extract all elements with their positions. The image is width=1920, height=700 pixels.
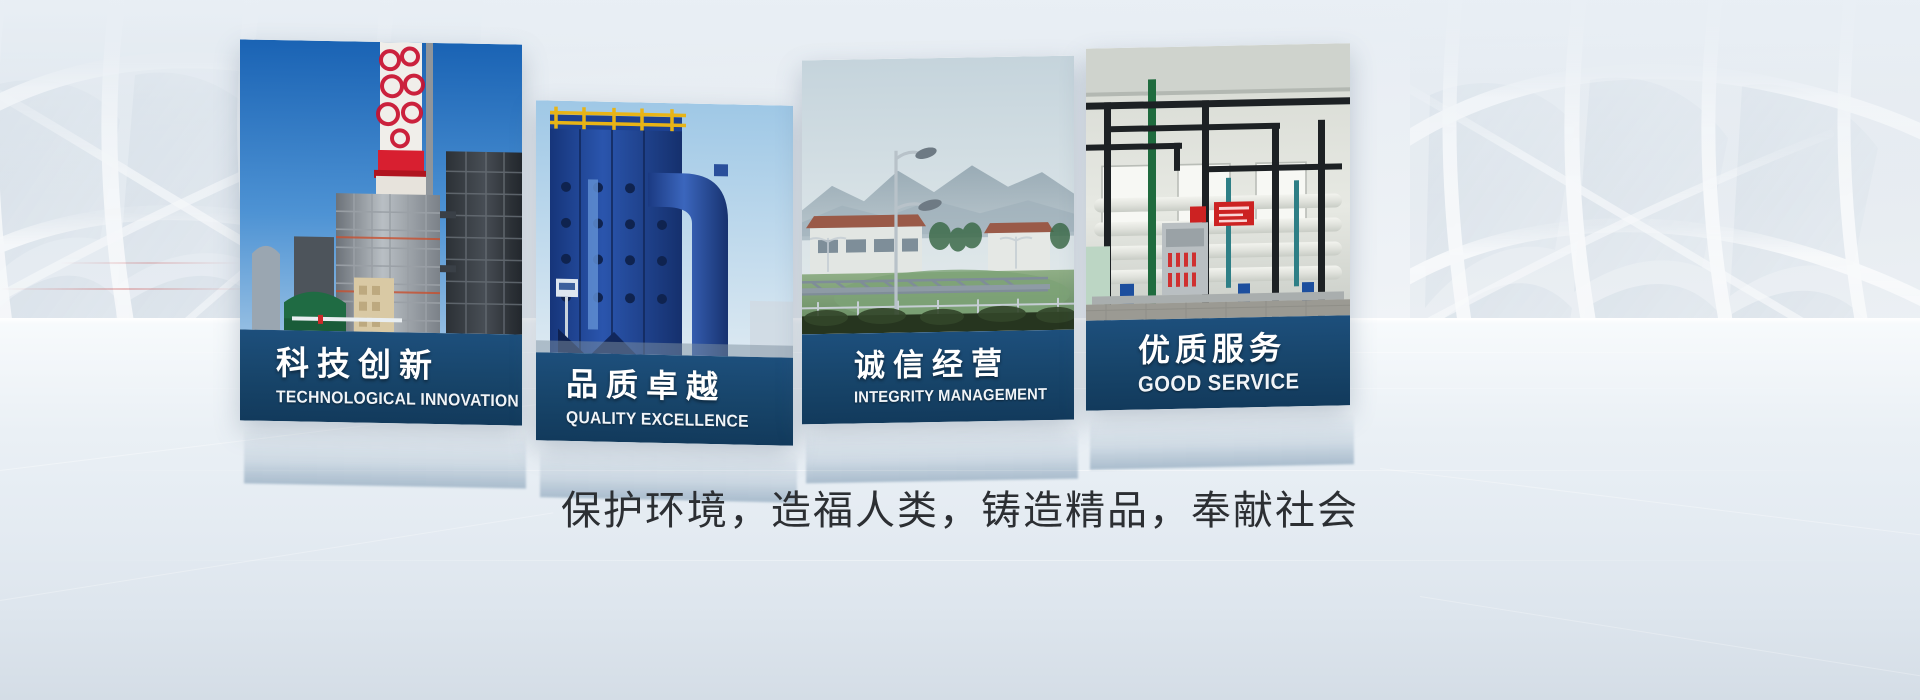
culture-panel-3[interactable]: 诚信经营 INTEGRITY MANAGEMENT [802, 56, 1074, 425]
panel-1-caption: 科技创新 TECHNOLOGICAL INNOVATION [240, 329, 522, 425]
wastewater-plant-photo-icon [802, 56, 1074, 335]
dust-collector-photo-icon [536, 100, 793, 358]
culture-panel-4[interactable]: 优质服务 GOOD SERVICE [1086, 43, 1350, 411]
panel-3-title-en: INTEGRITY MANAGEMENT [854, 387, 1056, 407]
panel-2-photo [536, 100, 793, 358]
banner-tagline: 保护环境，造福人类，铸造精品，奉献社会 [0, 478, 1920, 536]
red-accent-streak [0, 288, 250, 290]
panel-1-title-cn: 科技创新 [276, 346, 522, 384]
panel-4-title-cn: 优质服务 [1138, 330, 1350, 366]
culture-panel-2[interactable]: 品质卓越 QUALITY EXCELLENCE [536, 100, 793, 446]
panel-4-title-en: GOOD SERVICE [1138, 369, 1333, 395]
panel-3-title-cn: 诚信经营 [854, 347, 1074, 382]
power-plant-chimney-photo-icon [240, 39, 522, 334]
ro-membrane-room-photo-icon [1086, 43, 1350, 321]
culture-panel-1[interactable]: 科技创新 TECHNOLOGICAL INNOVATION [240, 39, 522, 425]
company-culture-banner: 科技创新 TECHNOLOGICAL INNOVATION [0, 0, 1920, 700]
panel-2-caption: 品质卓越 QUALITY EXCELLENCE [536, 352, 793, 446]
panel-4-caption: 优质服务 GOOD SERVICE [1086, 315, 1350, 411]
panel-4-photo [1086, 43, 1350, 321]
panel-1-title-en: TECHNOLOGICAL INNOVATION [276, 388, 502, 409]
panel-2-title-en: QUALITY EXCELLENCE [566, 409, 775, 431]
panel-3-photo [802, 56, 1074, 335]
red-accent-streak [60, 262, 240, 264]
panel-3-caption: 诚信经营 INTEGRITY MANAGEMENT [802, 330, 1074, 425]
panel-1-photo [240, 39, 522, 334]
panel-2-title-cn: 品质卓越 [566, 368, 793, 405]
